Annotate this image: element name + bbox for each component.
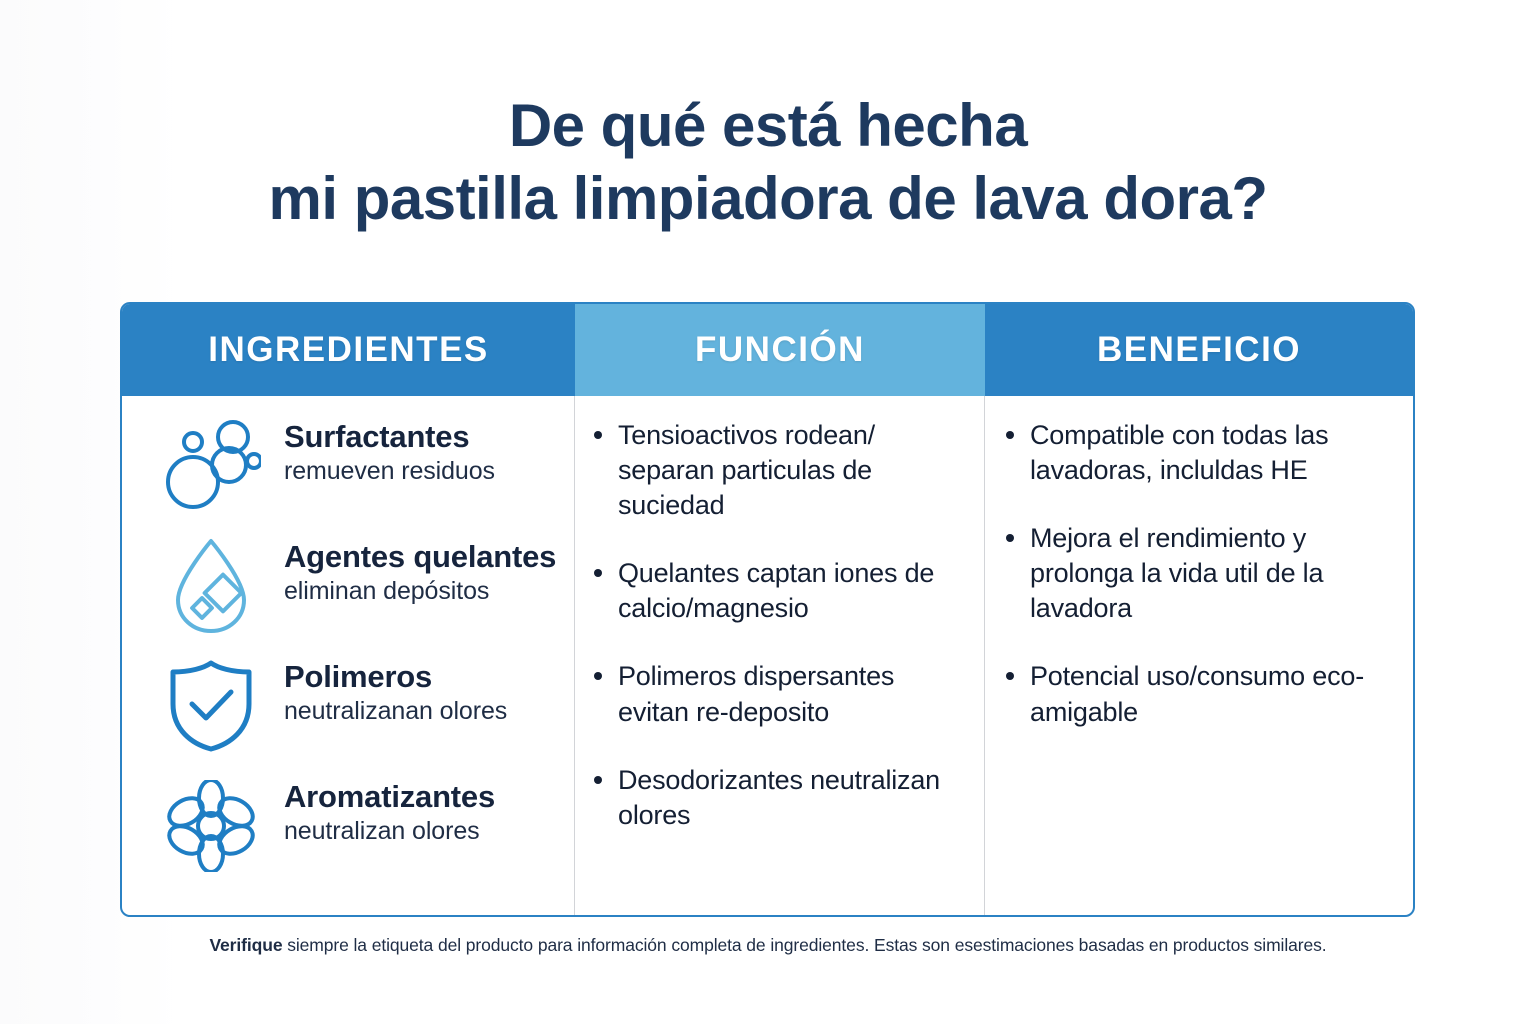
funcion-bullet-list: Tensioactivos rodean/ separan particulas… <box>591 418 968 833</box>
footer-disclaimer: Verifique siempre la etiqueta del produc… <box>0 935 1536 956</box>
column-header-beneficio-label: BENEFICIO <box>1097 330 1301 370</box>
list-item: Potencial uso/consumo eco-amigable <box>1003 659 1393 729</box>
column-ingredientes: Surfactantes remueven residuos <box>122 396 575 915</box>
ingredient-name: Polimeros <box>284 660 507 694</box>
ingredient-text: Surfactantes remueven residuos <box>284 414 495 487</box>
shield-check-icon <box>156 654 266 758</box>
list-item: Polimeros dispersantes evitan re-deposit… <box>591 659 968 729</box>
ingredient-text: Agentes quelantes eliminan depósitos <box>284 534 556 607</box>
bullet-dot <box>1006 431 1014 439</box>
ingredient-list: Surfactantes remueven residuos <box>156 414 560 888</box>
table-header-row: INGREDIENTES FUNCIÓN BENEFICIO <box>122 304 1413 396</box>
list-item: Mejora el rendimiento y prolonga la vida… <box>1003 521 1393 626</box>
bullet-text: Polimeros dispersantes evitan re-deposit… <box>618 661 894 726</box>
column-header-funcion: FUNCIÓN <box>575 304 985 396</box>
ingredient-name: Surfactantes <box>284 420 495 454</box>
bullet-dot <box>594 672 602 680</box>
ingredient-description: neutralizan olores <box>284 817 495 847</box>
bullet-dot <box>594 431 602 439</box>
bubbles-icon <box>156 414 266 518</box>
list-item: Surfactantes remueven residuos <box>156 414 560 528</box>
ingredient-description: remueven residuos <box>284 457 495 487</box>
list-item: Compatible con todas las lavadoras, incl… <box>1003 418 1393 488</box>
list-item: Quelantes captan iones de calcio/magnesi… <box>591 556 968 626</box>
footer-lead: Verifique <box>209 935 282 955</box>
footer-rest: siempre la etiqueta del producto para in… <box>282 935 1326 955</box>
page-title: De qué está hecha mi pastilla limpiadora… <box>0 92 1536 232</box>
list-item: Aromatizantes neutralizan olores <box>156 774 560 888</box>
ingredient-name: Aromatizantes <box>284 780 495 814</box>
title-line-1: De qué está hecha <box>0 92 1536 159</box>
water-droplet-icon <box>156 534 266 638</box>
bullet-text: Tensioactivos rodean/ separan particulas… <box>618 420 875 520</box>
bullet-dot <box>1006 672 1014 680</box>
bullet-text: Potencial uso/consumo eco-amigable <box>1030 661 1364 726</box>
bullet-dot <box>594 776 602 784</box>
bullet-dot <box>594 569 602 577</box>
ingredients-table: INGREDIENTES FUNCIÓN BENEFICIO <box>120 302 1415 917</box>
column-beneficio: Compatible con todas las lavadoras, incl… <box>985 396 1413 915</box>
column-funcion: Tensioactivos rodean/ separan particulas… <box>575 396 985 915</box>
bullet-dot <box>1006 534 1014 542</box>
ingredient-text: Aromatizantes neutralizan olores <box>284 774 495 847</box>
title-line-2: mi pastilla limpiadora de lava dora? <box>0 165 1536 232</box>
ingredient-text: Polimeros neutralizanan olores <box>284 654 507 727</box>
bullet-text: Quelantes captan iones de calcio/magnesi… <box>618 558 934 623</box>
column-header-beneficio: BENEFICIO <box>985 304 1413 396</box>
ingredient-description: eliminan depósitos <box>284 577 556 607</box>
ingredient-description: neutralizanan olores <box>284 697 507 727</box>
bullet-text: Compatible con todas las lavadoras, incl… <box>1030 420 1328 485</box>
column-header-ingredientes: INGREDIENTES <box>122 304 575 396</box>
bullet-text: Desodorizantes neutralizan olores <box>618 765 940 830</box>
table-body-row: Surfactantes remueven residuos <box>122 396 1413 915</box>
ingredient-name: Agentes quelantes <box>284 540 556 574</box>
infographic-canvas: De qué está hecha mi pastilla limpiadora… <box>0 0 1536 1024</box>
list-item: Tensioactivos rodean/ separan particulas… <box>591 418 968 523</box>
flower-icon <box>156 774 266 878</box>
bullet-text: Mejora el rendimiento y prolonga la vida… <box>1030 523 1323 623</box>
column-header-funcion-label: FUNCIÓN <box>695 330 865 370</box>
beneficio-bullet-list: Compatible con todas las lavadoras, incl… <box>1003 418 1393 730</box>
column-header-ingredientes-label: INGREDIENTES <box>208 330 489 370</box>
list-item: Agentes quelantes eliminan depósitos <box>156 534 560 648</box>
list-item: Desodorizantes neutralizan olores <box>591 763 968 833</box>
list-item: Polimeros neutralizanan olores <box>156 654 560 768</box>
